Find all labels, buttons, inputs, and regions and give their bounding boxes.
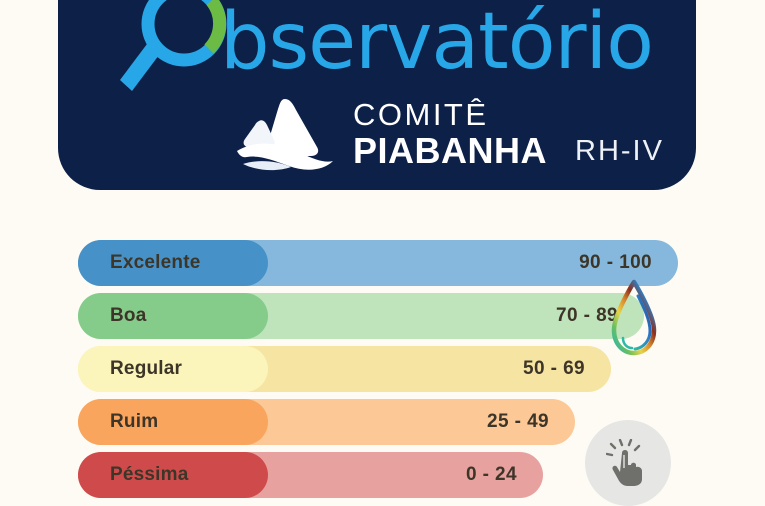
legend-track: Regular 50 - 69 bbox=[78, 346, 611, 392]
legend-track: Excelente 90 - 100 bbox=[78, 240, 678, 286]
mountain-river-icon bbox=[233, 95, 337, 173]
legend-label: Ruim bbox=[110, 399, 158, 445]
legend-track: Ruim 25 - 49 bbox=[78, 399, 575, 445]
committee-lockup: COMITÊ PIABANHA RH-IV bbox=[233, 95, 664, 173]
brand-wordmark: bservatório bbox=[220, 3, 653, 81]
legend-label: Boa bbox=[110, 293, 147, 339]
legend-row: Boa 70 - 89 bbox=[78, 293, 678, 339]
committee-name-line1: COMITÊ bbox=[353, 99, 547, 130]
brand-title: bservatório bbox=[118, 0, 653, 90]
legend-range: 25 - 49 bbox=[487, 399, 549, 445]
legend-row: Ruim 25 - 49 bbox=[78, 399, 678, 445]
committee-text: COMITÊ PIABANHA bbox=[353, 99, 547, 169]
legend-label: Excelente bbox=[110, 240, 201, 286]
legend-track: Boa 70 - 89 bbox=[78, 293, 644, 339]
tap-cursor-badge[interactable] bbox=[585, 420, 671, 506]
legend-range: 0 - 24 bbox=[466, 452, 517, 498]
region-code: RH-IV bbox=[575, 135, 664, 168]
legend-pill bbox=[78, 293, 268, 339]
legend-track: Péssima 0 - 24 bbox=[78, 452, 543, 498]
legend-range: 50 - 69 bbox=[523, 346, 585, 392]
legend-row: Regular 50 - 69 bbox=[78, 346, 678, 392]
legend-label: Regular bbox=[110, 346, 182, 392]
legend-label: Péssima bbox=[110, 452, 189, 498]
legend-row: Excelente 90 - 100 bbox=[78, 240, 678, 286]
magnifier-icon bbox=[118, 0, 236, 101]
header-card: bservatório COMITÊ PIABANHA RH-IV bbox=[58, 0, 696, 190]
committee-name-line2: PIABANHA bbox=[353, 133, 547, 169]
legend-pill bbox=[78, 399, 268, 445]
rainbow-water-drop-icon bbox=[608, 278, 660, 358]
